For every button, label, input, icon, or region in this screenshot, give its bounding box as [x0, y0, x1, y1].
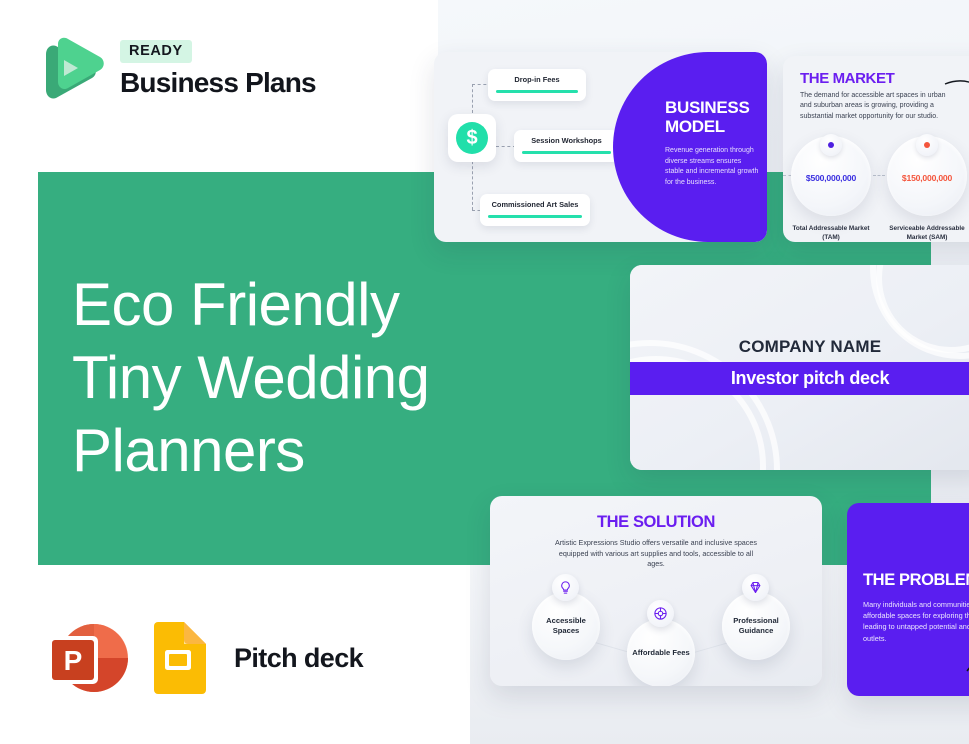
revenue-stream-chip[interactable]: Drop-in Fees [488, 69, 586, 101]
slide-the-market[interactable]: THE MARKET The demand for accessible art… [783, 56, 969, 242]
chip-label: Session Workshops [522, 136, 611, 145]
brand-logo: READY Business Plans [40, 36, 316, 102]
solution-node[interactable]: Affordable Fees [627, 619, 695, 686]
target-icon [647, 600, 674, 627]
gauge-knob [916, 134, 938, 156]
slide-the-problem[interactable]: THE PROBLEM Many individuals and communi… [847, 503, 969, 696]
chip-bar [496, 90, 578, 93]
gauge-value: $150,000,000 [887, 173, 967, 183]
investor-pitch-deck-band: Investor pitch deck [630, 362, 969, 395]
solution-node-label: Affordable Fees [632, 648, 689, 658]
market-heading: THE MARKET [800, 70, 894, 87]
chip-bar [488, 215, 582, 218]
gauge-knob [820, 134, 842, 156]
problem-paragraph: Many individuals and communities lack ac… [863, 599, 969, 644]
solution-node-label: Professional Guidance [722, 616, 790, 636]
connector-line [472, 156, 473, 210]
market-gauge: $150,000,000 [887, 136, 967, 216]
google-slides-svg [150, 622, 206, 694]
lightbulb-icon [552, 574, 579, 601]
solution-heading: THE SOLUTION [490, 513, 822, 532]
market-baseline [873, 175, 885, 176]
gauge-value: $500,000,000 [791, 173, 871, 183]
business-model-heading: BUSINESS MODEL [665, 98, 761, 136]
chip-label: Drop-in Fees [496, 75, 578, 84]
lightbulb-svg [558, 580, 573, 595]
google-slides-icon [150, 622, 206, 694]
format-row: P Pitch deck [42, 618, 363, 698]
gauge-caption: Total Addressable Market (TAM) [785, 224, 877, 242]
gauge-caption: Serviceable Addressable Market (SAM) [881, 224, 969, 242]
solution-node-label: Accessible Spaces [532, 616, 600, 636]
revenue-stream-chip[interactable]: Commissioned Art Sales [480, 194, 590, 226]
curved-arrow-icon [943, 72, 969, 122]
ready-badge: READY [120, 40, 192, 63]
diamond-svg [748, 580, 763, 595]
play-triangle-logo-svg [40, 36, 104, 102]
market-paragraph: The demand for accessible art spaces in … [800, 91, 950, 122]
business-model-paragraph: Revenue generation through diverse strea… [665, 146, 761, 188]
slide-business-model[interactable]: $ Drop-in Fees Session Workshops Commiss… [434, 52, 767, 242]
problem-heading: THE PROBLEM [863, 571, 969, 590]
gauge-dot [924, 142, 930, 148]
play-triangle-logo-icon [40, 36, 104, 102]
dollar-circle-icon: $ [448, 114, 496, 162]
curved-line-icon [965, 641, 969, 679]
hero-title: Eco Friendly Tiny Wedding Planners [72, 268, 492, 487]
market-gauge: $500,000,000 [791, 136, 871, 216]
connector-line [496, 146, 516, 147]
format-label: Pitch deck [234, 643, 363, 674]
brand-title: Business Plans [120, 67, 316, 99]
investor-pitch-deck-text: Investor pitch deck [731, 368, 889, 389]
chip-bar [522, 151, 611, 154]
business-model-text-block: BUSINESS MODEL Revenue generation throug… [665, 98, 761, 188]
solution-paragraph: Artistic Expressions Studio offers versa… [550, 538, 762, 570]
powerpoint-icon: P [42, 618, 128, 698]
target-svg [653, 606, 668, 621]
dollar-glyph: $ [456, 122, 488, 154]
revenue-stream-chip[interactable]: Session Workshops [514, 130, 619, 162]
curved-line-svg [965, 641, 969, 679]
solution-node[interactable]: Accessible Spaces [532, 592, 600, 660]
curved-arrow-svg [943, 72, 969, 122]
gauge-dot [828, 142, 834, 148]
brand-text-block: READY Business Plans [120, 40, 316, 99]
company-name-title: COMPANY NAME [630, 337, 969, 357]
powerpoint-svg: P [42, 618, 128, 698]
slide-company-name[interactable]: COMPANY NAME Investor pitch deck [630, 265, 969, 470]
diamond-icon [742, 574, 769, 601]
svg-text:P: P [64, 645, 83, 676]
chip-label: Commissioned Art Sales [488, 200, 582, 209]
poster-canvas: READY Business Plans Eco Friendly Tiny W… [0, 0, 969, 744]
solution-node[interactable]: Professional Guidance [722, 592, 790, 660]
slide-the-solution[interactable]: THE SOLUTION Artistic Expressions Studio… [490, 496, 822, 686]
